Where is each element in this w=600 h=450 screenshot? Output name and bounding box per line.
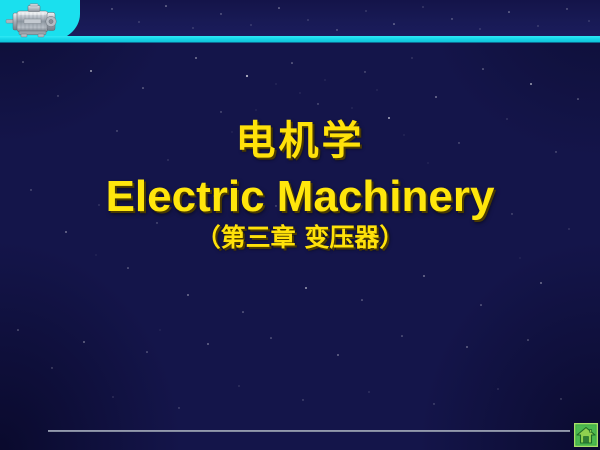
page-title-english: Electric Machinery: [0, 173, 600, 221]
title-block: 电机学 Electric Machinery （第三章 变压器）: [0, 118, 600, 253]
presentation-slide: 电机学 Electric Machinery （第三章 变压器）: [0, 0, 600, 450]
footer-divider: [48, 430, 570, 432]
home-icon[interactable]: [574, 423, 598, 447]
banner-starfield: [0, 0, 600, 36]
banner-accent-line: [0, 36, 600, 42]
page-title-chinese: 电机学: [0, 118, 600, 165]
slide-header-banner: [0, 0, 600, 44]
page-subtitle-chapter: （第三章 变压器）: [0, 223, 600, 253]
electric-motor-icon: [4, 3, 70, 39]
